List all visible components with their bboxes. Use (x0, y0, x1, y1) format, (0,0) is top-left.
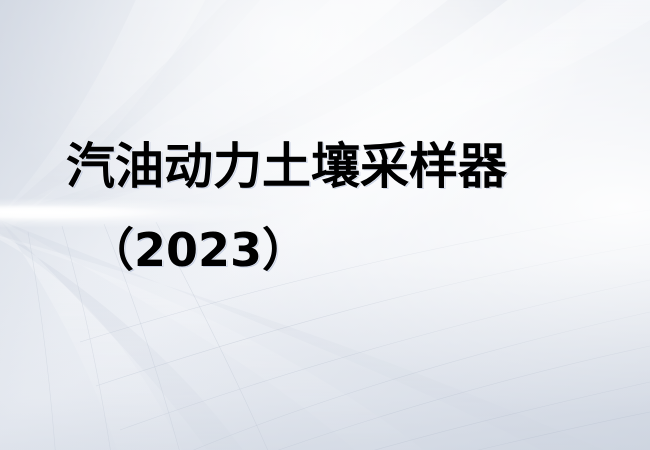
background-mesh-pattern (0, 0, 650, 450)
title-slide: 汽油动力土壤采样器 （2023） (0, 0, 650, 450)
